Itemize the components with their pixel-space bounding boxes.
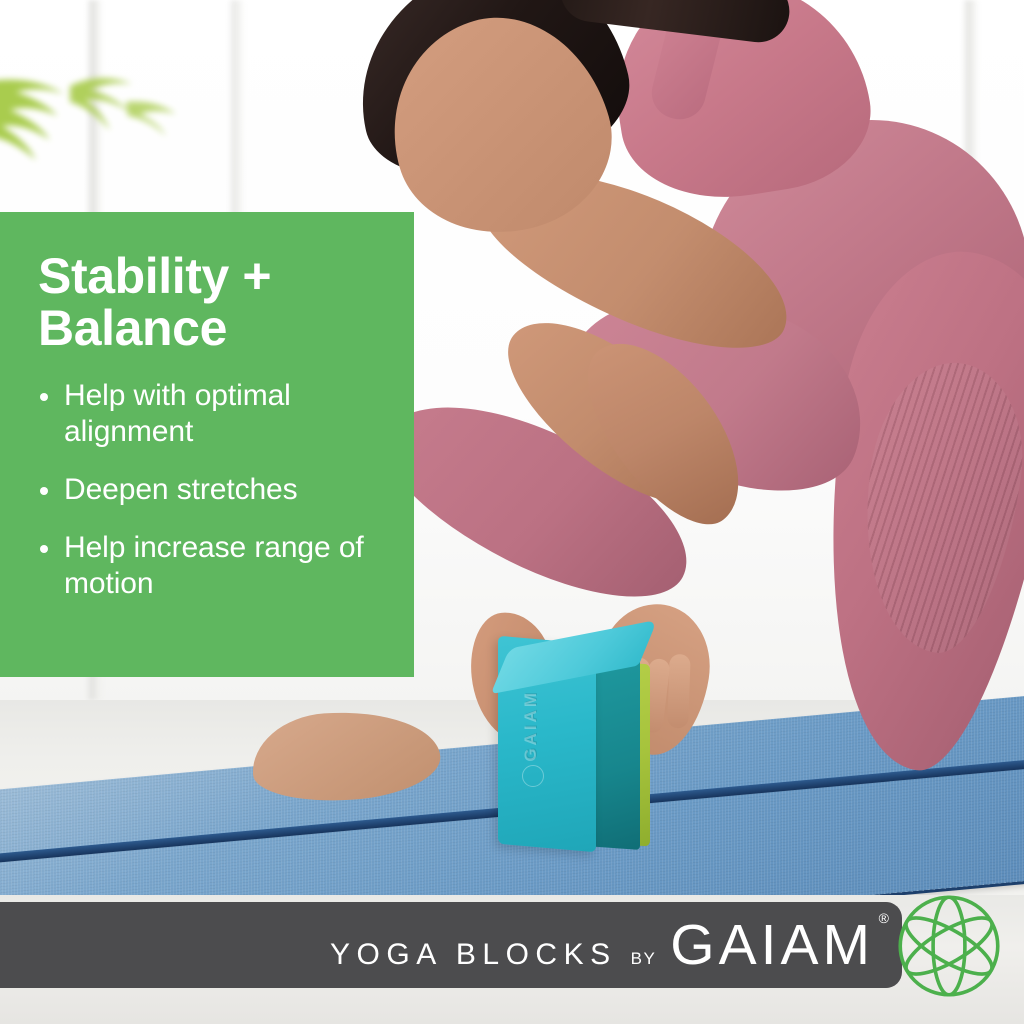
- banner-product-label: YOGA BLOCKS: [330, 938, 617, 972]
- registered-trademark-icon: ®: [879, 910, 889, 926]
- benefit-item: Deepen stretches: [38, 472, 388, 508]
- product-marketing-image: GAIAM Stability + Balance Help with opti…: [0, 0, 1024, 1024]
- brand-wordmark-text: GAIAM: [670, 913, 874, 977]
- gaiam-flower-logo-icon: [896, 893, 1002, 999]
- bare-foot: [249, 706, 443, 807]
- brand-banner: YOGA BLOCKS BY GAIAM ®: [0, 895, 1024, 1024]
- banner-dark-bar: YOGA BLOCKS BY GAIAM ®: [0, 902, 902, 988]
- banner-brand-name: GAIAM ®: [670, 912, 874, 978]
- banner-lockup: YOGA BLOCKS BY GAIAM ®: [330, 912, 874, 978]
- benefit-item: Help with optimal alignment: [38, 378, 388, 450]
- benefits-panel: Stability + Balance Help with optimal al…: [0, 212, 414, 677]
- banner-connector: BY: [631, 949, 657, 969]
- finger: [667, 654, 691, 729]
- panel-title: Stability + Balance: [38, 250, 388, 354]
- benefit-item: Help increase range of motion: [38, 530, 388, 602]
- benefits-list: Help with optimal alignment Deepen stret…: [38, 378, 388, 602]
- block-embossed-brand: GAIAM: [521, 690, 541, 762]
- block-embossed-logo-icon: [522, 765, 544, 787]
